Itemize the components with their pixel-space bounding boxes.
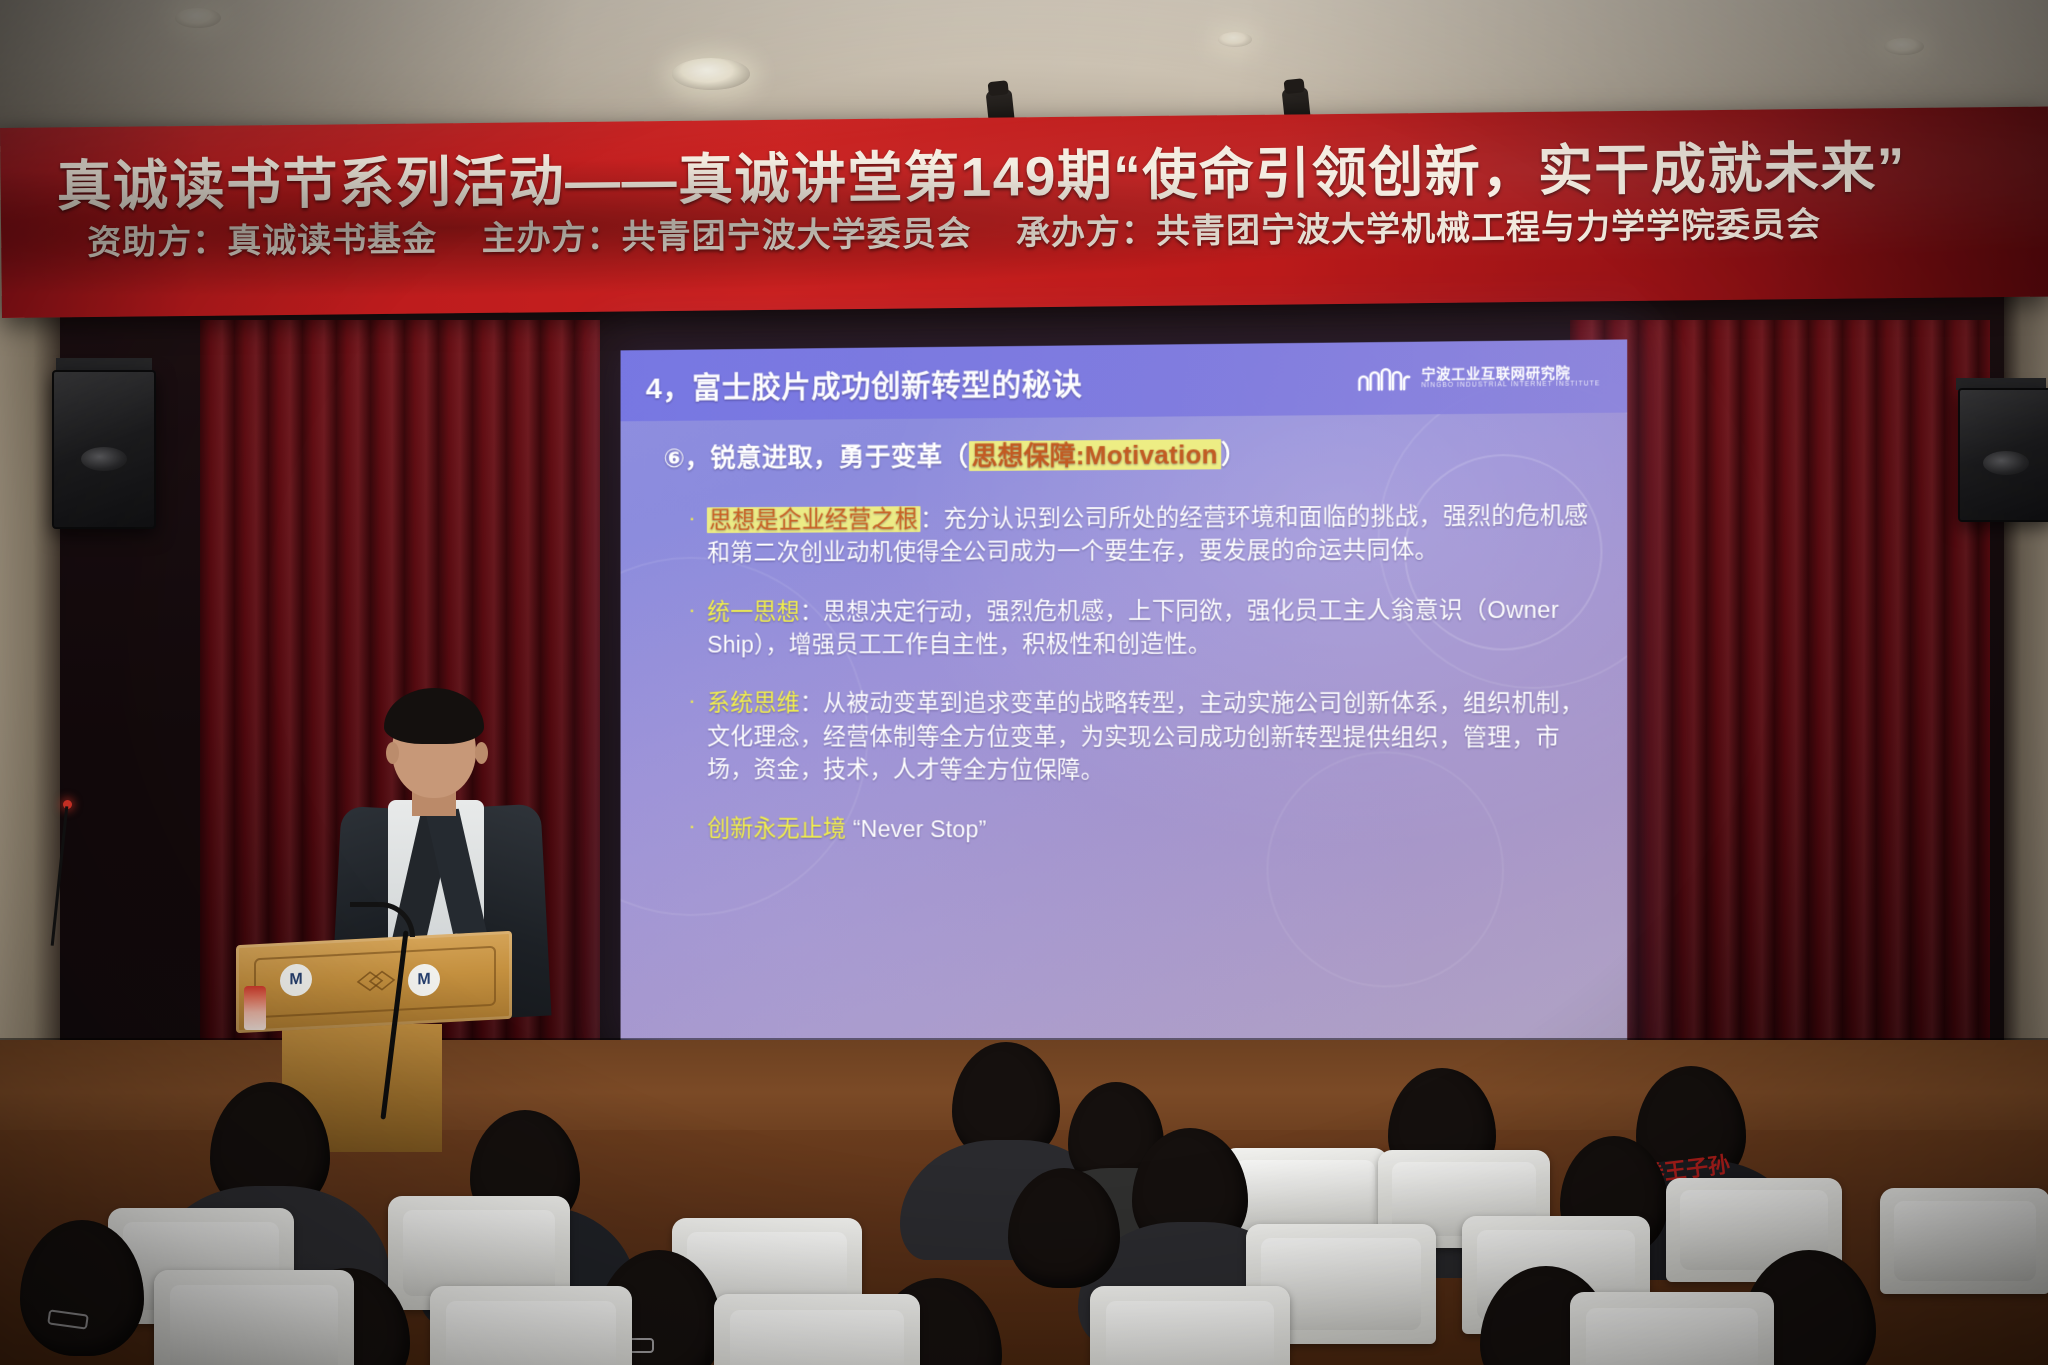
wall-loudspeaker-left [52, 370, 156, 529]
slide-bullet: · 创新永无止境 “Never Stop” [688, 812, 1592, 849]
banner-organizer: 主办方：共青团宁波大学委员会 [481, 215, 971, 258]
bullet-body: ：思想决定行动，强烈危机感，上下同欲，强化员工主人翁意识（Owner Ship）… [707, 596, 1559, 657]
bullet-marker: · [688, 812, 695, 845]
auditorium-chair [1090, 1286, 1290, 1365]
slide-heading-prefix: ⑥，锐意进取，勇于变革（ [663, 441, 968, 473]
auditorium-chair [430, 1286, 632, 1365]
slide-bullet: · 系统思维：从被动变革到追求变革的战略转型，主动实施公司创新体系，组织机制，文… [688, 687, 1592, 789]
bullet-lead: 统一思想 [707, 599, 800, 625]
wall-panel-right [2004, 146, 2048, 1156]
institute-name-en: NINGBO INDUSTRIAL INTERNET INSTITUTE [1421, 381, 1600, 390]
slide-content: ⑥，锐意进取，勇于变革（思想保障:Motivation） · 思想是企业经营之根… [663, 431, 1592, 875]
banner-host: 承办方：共青团宁波大学机械工程与力学学院委员会 [1016, 206, 1821, 252]
presenter-ear [386, 742, 399, 764]
presenter-ear [475, 742, 488, 764]
bullet-lead: 思想是企业经营之根 [707, 506, 920, 533]
auditorium-chair [1880, 1188, 2048, 1294]
event-banner: 真诚读书节系列活动——真诚讲堂第149期“使命引领创新，实干成就未来” 资助方：… [0, 107, 2048, 318]
presenter-hair [384, 688, 484, 744]
speaker-driver-icon [81, 447, 127, 471]
bullet-text: 系统思维：从被动变革到追求变革的战略转型，主动实施公司创新体系，组织机制，文化理… [707, 687, 1592, 789]
banner-sponsor: 资助方：真诚读书基金 [87, 220, 437, 262]
auditorium-chair [714, 1294, 920, 1365]
bullet-lead: 系统思维 [707, 690, 800, 716]
institute-logo: 宁波工业互联网研究院 NINGBO INDUSTRIAL INTERNET IN… [1356, 363, 1600, 392]
water-bottle [244, 986, 266, 1030]
projection-screen: 4，富士胶片成功创新转型的秘诀 宁波工业互联网研究院 NINGBO [621, 339, 1628, 1050]
slide-bullet: · 统一思想：思想决定行动，强烈危机感，上下同欲，强化员工主人翁意识（Owner… [688, 593, 1592, 662]
institute-name-cn: 宁波工业互联网研究院 [1421, 365, 1600, 383]
people-wave-icon [1356, 365, 1411, 392]
bullet-body: “Never Stop” [846, 815, 986, 841]
slide-heading-highlight: 思想保障:Motivation [969, 439, 1221, 471]
bullet-lead: 创新永无止境 [707, 815, 846, 841]
slide-title-bar: 4，富士胶片成功创新转型的秘诀 宁波工业互联网研究院 NINGBO [621, 339, 1628, 421]
slide-title: 4，富士胶片成功创新转型的秘诀 [646, 359, 1083, 407]
bullet-text: 统一思想：思想决定行动，强烈危机感，上下同欲，强化员工主人翁意识（Owner S… [707, 593, 1592, 662]
bullet-body: ：从被动变革到追求变革的战略转型，主动实施公司创新体系，组织机制，文化理念，经营… [707, 690, 1584, 783]
slide-surface: 4，富士胶片成功创新转型的秘诀 宁波工业互联网研究院 NINGBO [621, 339, 1628, 1050]
auditorium-chair [1570, 1292, 1774, 1365]
bullet-text: 创新永无止境 “Never Stop” [707, 812, 986, 846]
speaker-driver-icon [1983, 451, 2029, 475]
bullet-marker: · [688, 505, 695, 571]
bullet-text: 思想是企业经营之根：充分认识到公司所处的经营环境和面临的挑战，强烈的危机感和第二… [707, 499, 1592, 570]
slide-heading-suffix: ） [1221, 439, 1247, 469]
lecture-hall-photo: 真诚读书节系列活动——真诚讲堂第149期“使命引领创新，实干成就未来” 资助方：… [0, 0, 2048, 1365]
wall-loudspeaker-right [1958, 388, 2048, 522]
slide-heading: ⑥，锐意进取，勇于变革（思想保障:Motivation） [663, 431, 1592, 475]
slide-bullet: · 思想是企业经营之根：充分认识到公司所处的经营环境和面临的挑战，强烈的危机感和… [688, 499, 1592, 570]
bullet-marker: · [688, 596, 695, 662]
stage-curtain-right [1570, 320, 1990, 1150]
auditorium-chair [154, 1270, 354, 1365]
bullet-marker: · [688, 688, 695, 787]
